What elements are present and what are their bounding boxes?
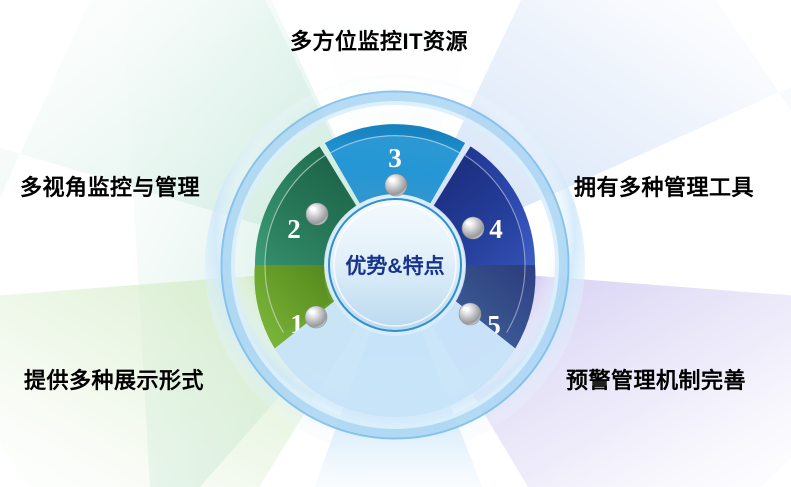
- sphere-marker-5[interactable]: [459, 303, 481, 325]
- diagram-canvas: 1 2 3 4 5: [0, 0, 791, 487]
- sphere-marker-1[interactable]: [305, 306, 327, 328]
- callout-right-lower[interactable]: 预警管理机制完善: [566, 363, 746, 395]
- segment-4-number: 4: [489, 214, 503, 244]
- segment-3-number: 3: [388, 143, 402, 173]
- sphere-marker-3[interactable]: [385, 174, 407, 196]
- callout-top[interactable]: 多方位监控IT资源: [290, 24, 468, 56]
- sphere-marker-2[interactable]: [306, 203, 328, 225]
- wheel-graphic: 1 2 3 4 5: [0, 0, 791, 487]
- segment-2-number: 2: [287, 214, 301, 244]
- sphere-marker-4[interactable]: [462, 217, 484, 239]
- callout-right-upper[interactable]: 拥有多种管理工具: [574, 170, 754, 202]
- callout-left-lower[interactable]: 提供多种展示形式: [24, 363, 204, 395]
- center-label: 优势&特点: [345, 254, 444, 278]
- callout-left-upper[interactable]: 多视角监控与管理: [20, 170, 200, 202]
